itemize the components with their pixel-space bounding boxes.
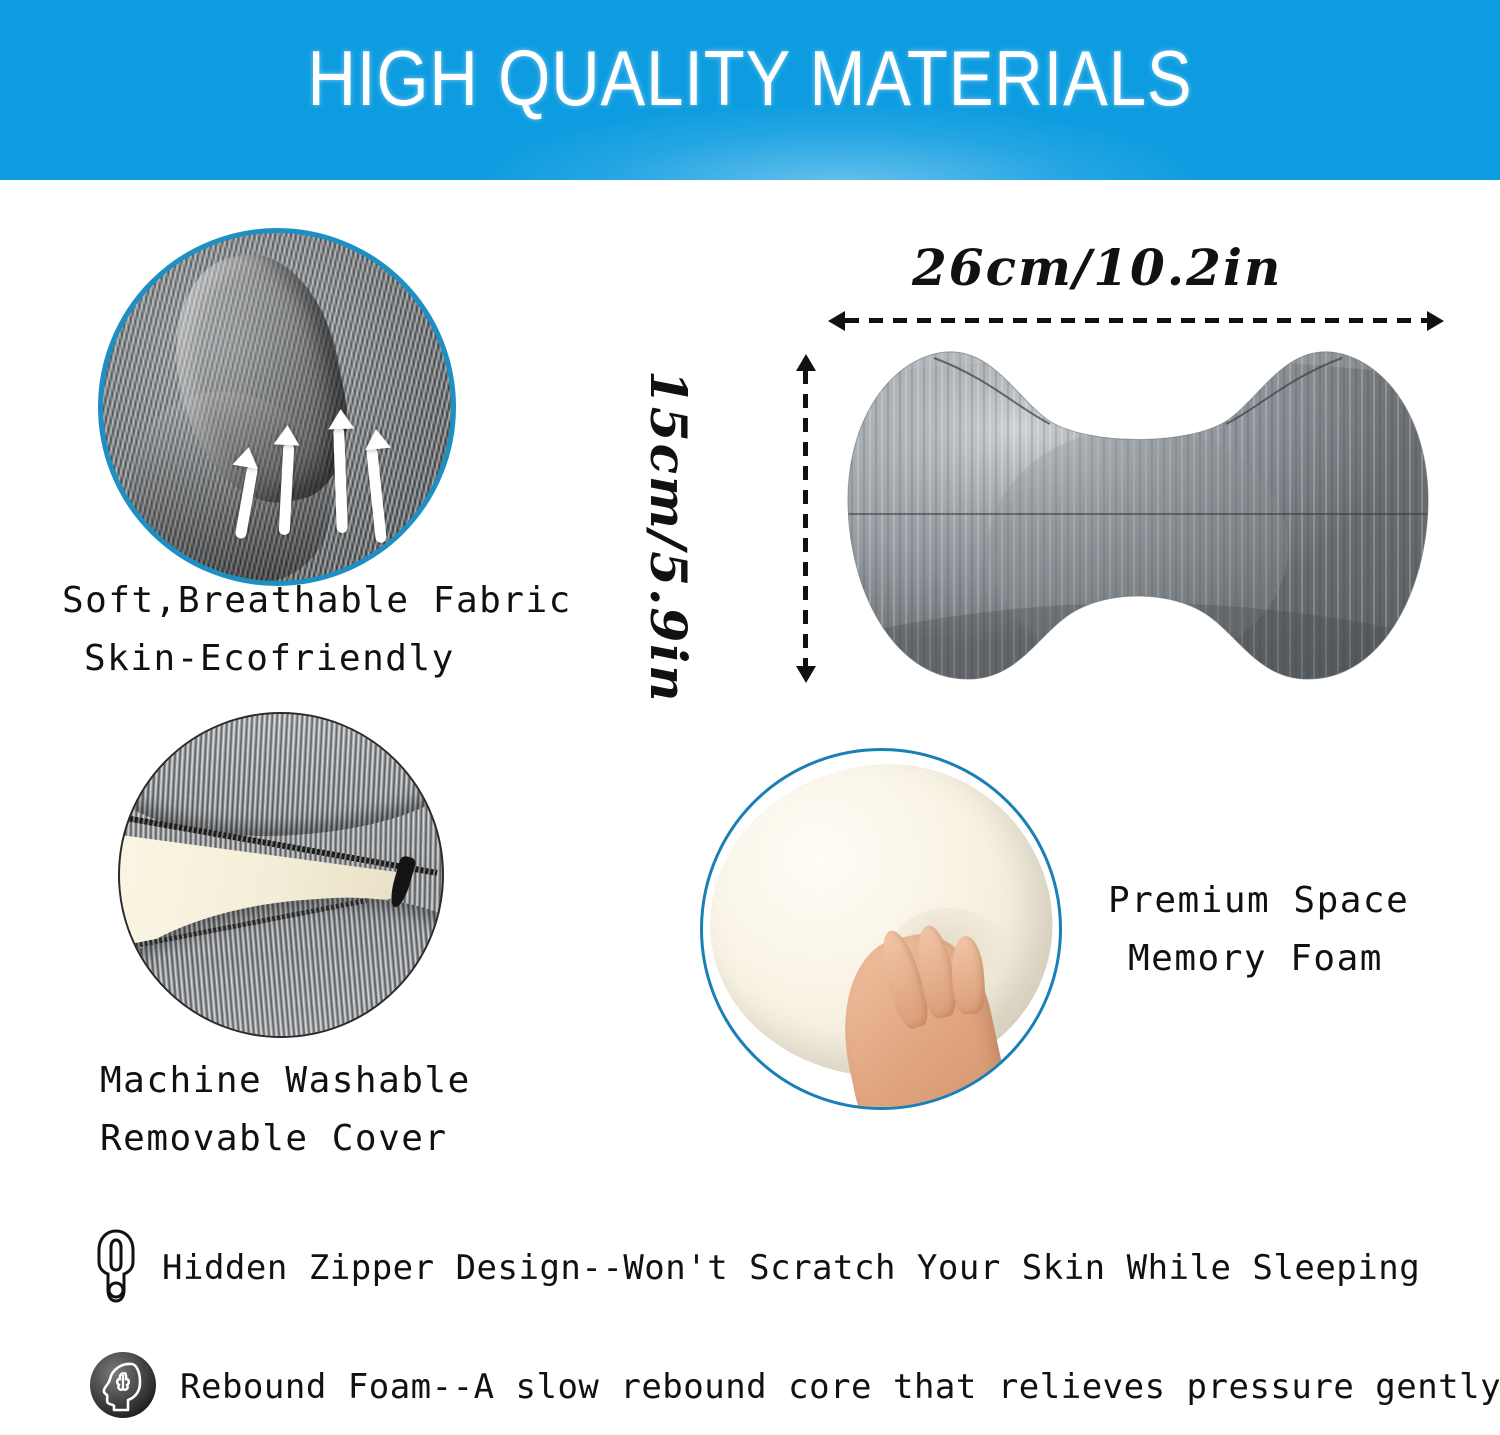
bullet-rebound-foam-text: Rebound Foam--A slow rebound core that r… <box>180 1367 1500 1407</box>
dimension-width-line <box>845 318 1427 323</box>
arrow-left-icon <box>828 311 845 331</box>
bullet-rebound-foam: Rebound Foam--A slow rebound core that r… <box>88 1350 1500 1424</box>
cover-upper-flap <box>118 712 444 836</box>
caption-line-2: Skin-Ecofriendly <box>84 630 455 688</box>
hand-pressing-foam-photo <box>700 748 1062 1110</box>
caption-line-1: Soft,Breathable Fabric <box>62 580 572 621</box>
caption-machine-washable-cover: Machine WashableRemovable Cover <box>100 1052 471 1168</box>
arrow-up-icon <box>796 354 816 371</box>
pillow-shape <box>838 338 1438 688</box>
dimension-width-label: 26cm/10.2in <box>912 238 1282 297</box>
caption-line-1: Premium Space <box>1108 880 1409 921</box>
head-brain-icon <box>88 1350 158 1424</box>
product-photo-knee-pillow <box>838 338 1438 688</box>
fabric-closeup-photo <box>98 228 456 586</box>
zipper-pull-icon <box>92 1228 140 1308</box>
caption-line-1: Machine Washable <box>100 1060 471 1101</box>
page-title: HIGH QUALITY MATERIALS <box>105 30 1395 126</box>
caption-soft-breathable-fabric: Soft,Breathable FabricSkin-Ecofriendly <box>62 572 572 688</box>
caption-premium-memory-foam: Premium SpaceMemory Foam <box>1108 872 1409 988</box>
caption-line-2: Removable Cover <box>100 1118 448 1159</box>
caption-line-2: Memory Foam <box>1128 930 1383 988</box>
bullet-hidden-zipper-text: Hidden Zipper Design--Won't Scratch Your… <box>162 1248 1420 1288</box>
arrow-down-icon <box>796 666 816 683</box>
header-banner: HIGH QUALITY MATERIALS <box>0 0 1500 180</box>
dimension-height-line <box>803 370 808 666</box>
unzipped-cover-photo <box>118 712 444 1038</box>
arrow-right-icon <box>1427 311 1444 331</box>
bullet-hidden-zipper: Hidden Zipper Design--Won't Scratch Your… <box>92 1228 1420 1308</box>
dimension-height-label: 15cm/5.9in <box>639 370 698 704</box>
